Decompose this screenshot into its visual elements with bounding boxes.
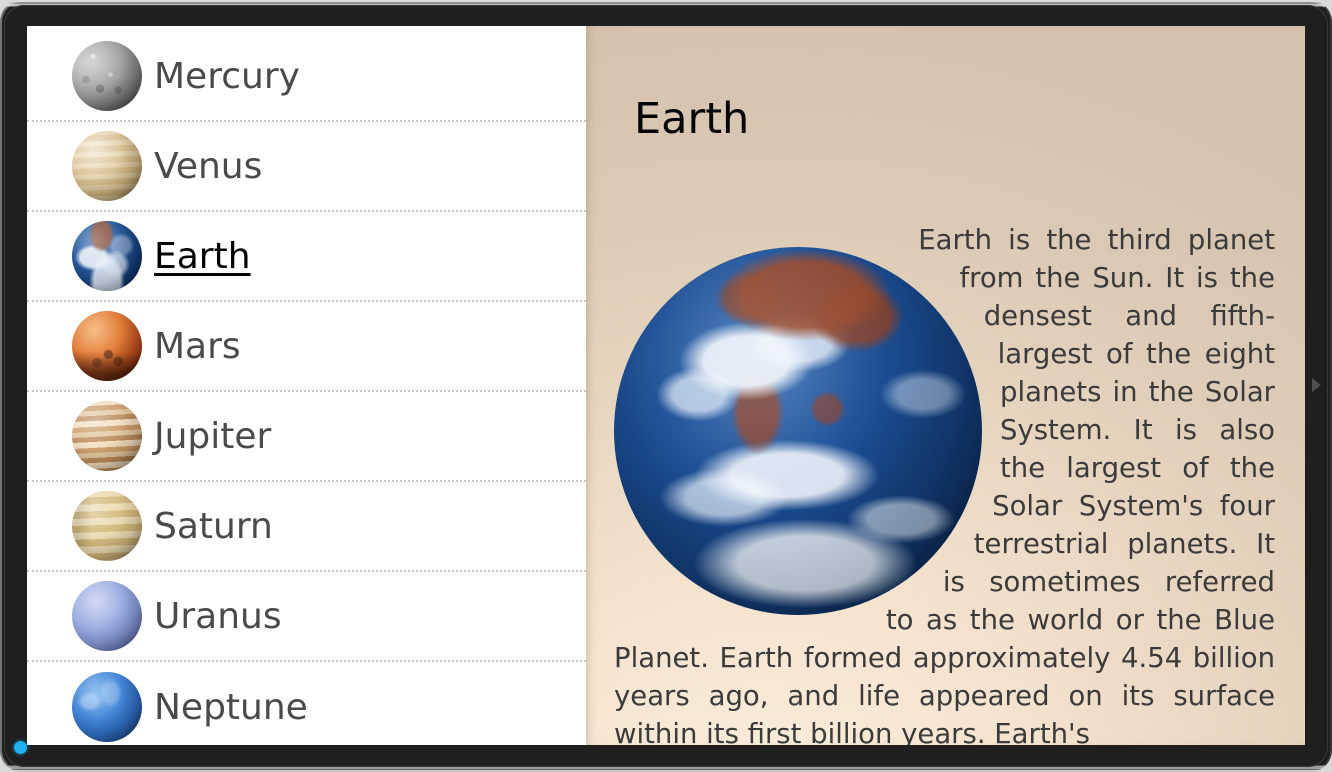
- planet-description: Earth is the third planet from the Sun. …: [614, 221, 1275, 745]
- planet-mercury-icon: [72, 41, 142, 111]
- planet-list-item-label: Neptune: [154, 687, 308, 728]
- planet-list-item-neptune[interactable]: Neptune: [27, 662, 586, 745]
- planet-list-item-saturn[interactable]: Saturn: [27, 482, 586, 572]
- planet-jupiter-icon: [72, 401, 142, 471]
- planet-detail-panel: Earth Earth is the third planet from the…: [586, 26, 1305, 745]
- planet-list-item-label: Venus: [154, 146, 262, 187]
- slide-screen: Mercury Venus Earth Mars Jupiter Saturn: [27, 26, 1305, 745]
- triangle-right-icon[interactable]: [1312, 378, 1321, 392]
- planet-earth-icon: [72, 221, 142, 291]
- earth-photo-icon: [614, 247, 982, 615]
- planet-list-item-label: Saturn: [154, 506, 273, 547]
- planet-uranus-icon: [72, 581, 142, 651]
- planet-list-item-mercury[interactable]: Mercury: [27, 32, 586, 122]
- device-frame: Mercury Venus Earth Mars Jupiter Saturn: [0, 0, 1332, 772]
- planet-saturn-icon: [72, 491, 142, 561]
- planet-mars-icon: [72, 311, 142, 381]
- planet-list-item-jupiter[interactable]: Jupiter: [27, 392, 586, 482]
- status-indicator-dot: [14, 741, 27, 754]
- planet-list-item-label: Mercury: [154, 56, 300, 97]
- planet-neptune-icon: [72, 672, 142, 742]
- planet-list-item-label: Jupiter: [154, 416, 271, 457]
- page-title: Earth: [634, 98, 749, 141]
- planet-list-item-uranus[interactable]: Uranus: [27, 572, 586, 662]
- planet-list-item-label: Mars: [154, 326, 241, 367]
- planet-list-item-label: Uranus: [154, 596, 282, 637]
- planet-venus-icon: [72, 131, 142, 201]
- planet-list-item-mars[interactable]: Mars: [27, 302, 586, 392]
- planet-list: Mercury Venus Earth Mars Jupiter Saturn: [27, 26, 586, 745]
- planet-list-item-venus[interactable]: Venus: [27, 122, 586, 212]
- planet-list-item-earth[interactable]: Earth: [27, 212, 586, 302]
- planet-list-item-label: Earth: [154, 236, 251, 277]
